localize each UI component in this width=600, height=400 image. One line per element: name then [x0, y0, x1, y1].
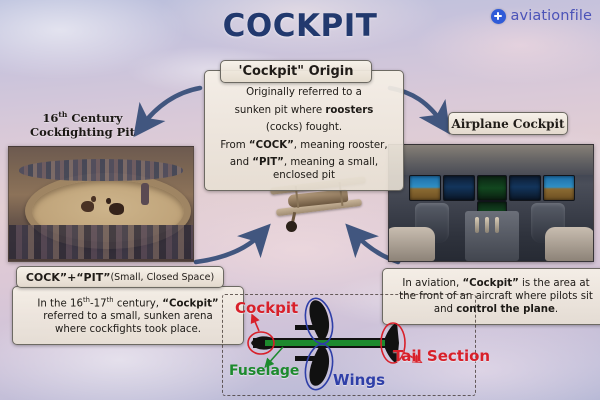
origin-line-5: and “PIT”, meaning a small, enclosed pit: [213, 157, 395, 182]
display-engine-upper: [477, 175, 507, 201]
cockpit-leader: [253, 317, 259, 331]
arrow-origin-to-pit: [141, 88, 200, 127]
cp-post: century,: [114, 298, 163, 309]
engine-lower: [295, 356, 315, 361]
av-post: is the area at: [519, 278, 590, 289]
stabilizer-upper: [383, 323, 399, 343]
arrow-pit-to-biplane: [196, 233, 262, 262]
seat-right: [545, 227, 594, 261]
cock-pit-card-heading: COCK” + “PIT” (Small, Closed Space): [16, 266, 224, 288]
origin-line-4-post: , meaning rooster,: [294, 140, 388, 151]
cock-pit-definition-card: In the 16th-17th century, “Cockpit” refe…: [12, 286, 244, 345]
label-cockfighting-pit: 16th Century Cockfighting Pit: [20, 108, 145, 139]
origin-line-2-pre: sunken pit where: [235, 105, 326, 116]
cp-mid: -17: [90, 298, 107, 309]
cp-bold: “Cockpit”: [162, 298, 218, 309]
thrust-lever-3: [495, 217, 499, 233]
diagram-label-cockpit: Cockpit: [235, 299, 298, 317]
thrust-lever-1: [475, 217, 479, 233]
cp-sup-2: th: [107, 296, 114, 304]
origin-card-heading: 'Cockpit" Origin: [220, 60, 372, 83]
overhead-panel: [389, 145, 593, 175]
plane-parts-diagram: Cockpit Fuselage Wings Tail Section: [222, 294, 476, 396]
cockfighting-pit-text: Cockfighting Pit: [30, 125, 135, 139]
plus-circle-icon: [491, 9, 506, 24]
thrust-lever-2: [485, 217, 489, 233]
label-airplane-cockpit: Airplane Cockpit: [448, 112, 568, 135]
airplane-cockpit-image: [388, 144, 594, 262]
cockfighting-pit-image: [8, 146, 194, 262]
brand-logo[interactable]: aviationfile: [491, 8, 592, 24]
century-suffix: th: [58, 110, 67, 119]
aviation-line-1: In aviation, “Cockpit” is the area at: [392, 277, 600, 290]
origin-line-2: sunken pit where roosters: [213, 105, 395, 118]
cock-pit-line-3: where cockfights took place.: [22, 323, 234, 336]
center-pedestal: [465, 211, 519, 261]
century-number: 16: [42, 111, 58, 125]
cock-pit-line-1: In the 16th-17th century, “Cockpit”: [22, 294, 234, 310]
cp-head-small: (Small, Closed Space): [110, 272, 214, 283]
origin-line-2-bold: roosters: [325, 105, 373, 116]
origin-card: Originally referred to a sunken pit wher…: [204, 70, 404, 191]
origin-line-1: Originally referred to a: [213, 87, 395, 100]
diagram-label-tail: Tail Section: [393, 347, 490, 365]
century-word: Century: [67, 111, 122, 125]
display-nav-right: [509, 175, 541, 201]
infographic-canvas: COCKPIT aviationfile: [0, 0, 600, 400]
display-nav-left: [443, 175, 475, 201]
av3-post: .: [555, 304, 558, 315]
engine-upper: [295, 325, 315, 330]
seat-left: [388, 227, 435, 261]
biplane-wheel: [286, 221, 297, 232]
av-pre: In aviation,: [402, 278, 462, 289]
origin-line-4-pre: From: [220, 140, 248, 151]
cp-head-bold-2: “PIT”: [76, 271, 110, 284]
origin-line-5-bold: “PIT”: [252, 157, 284, 168]
brand-name: aviationfile: [511, 8, 592, 24]
origin-line-4-bold: “COCK”: [249, 140, 294, 151]
crowd-back: [19, 159, 183, 181]
display-pfd-left: [409, 175, 441, 201]
cp-head-plus: +: [67, 271, 76, 284]
origin-heading-text: 'Cockpit" Origin: [238, 64, 353, 79]
cp-sup-1: th: [83, 296, 90, 304]
display-pfd-right: [543, 175, 575, 201]
origin-line-4: From “COCK”, meaning rooster,: [213, 140, 395, 153]
origin-line-5-post: , meaning a small, enclosed pit: [273, 157, 378, 181]
diagram-label-wings: Wings: [333, 371, 385, 389]
diagram-label-fuselage: Fuselage: [229, 363, 299, 379]
cp-head-bold-1: COCK”: [26, 271, 67, 284]
airplane-cockpit-text: Airplane Cockpit: [451, 117, 564, 131]
crowd-front: [9, 225, 193, 259]
cp-pre: In the 16: [37, 298, 83, 309]
referee-figure: [141, 183, 149, 205]
cock-pit-line-2: referred to a small, sunken arena: [22, 310, 234, 323]
origin-line-3: (cocks) fought.: [213, 122, 395, 135]
av-bold: “Cockpit”: [462, 278, 518, 289]
origin-line-5-pre: and: [230, 157, 252, 168]
